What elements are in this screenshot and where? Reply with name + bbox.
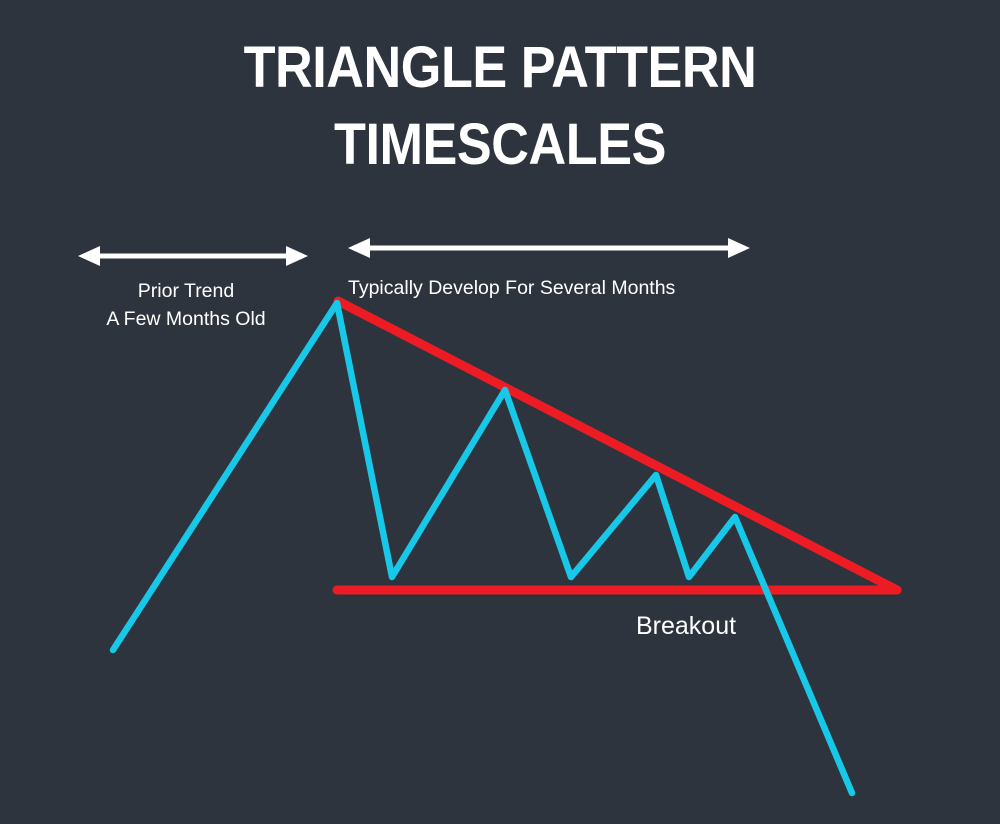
breakout-label: Breakout <box>636 612 736 641</box>
prior-trend-arrow-icon <box>78 246 308 266</box>
prior-trend-label-line-1: Prior Trend <box>0 278 372 306</box>
prior-trend-label: Prior Trend A Few Months Old <box>0 278 372 333</box>
development-span-label: Typically Develop For Several Months <box>348 277 675 300</box>
prior-trend-label-line-2: A Few Months Old <box>0 306 372 334</box>
triangle-pattern-chart <box>0 0 1000 824</box>
development-span-arrow-icon <box>348 238 750 258</box>
infographic-canvas: TRIANGLE PATTERN TIMESCALES Prior Trend … <box>0 0 1000 824</box>
resistance-trendline <box>338 301 897 590</box>
